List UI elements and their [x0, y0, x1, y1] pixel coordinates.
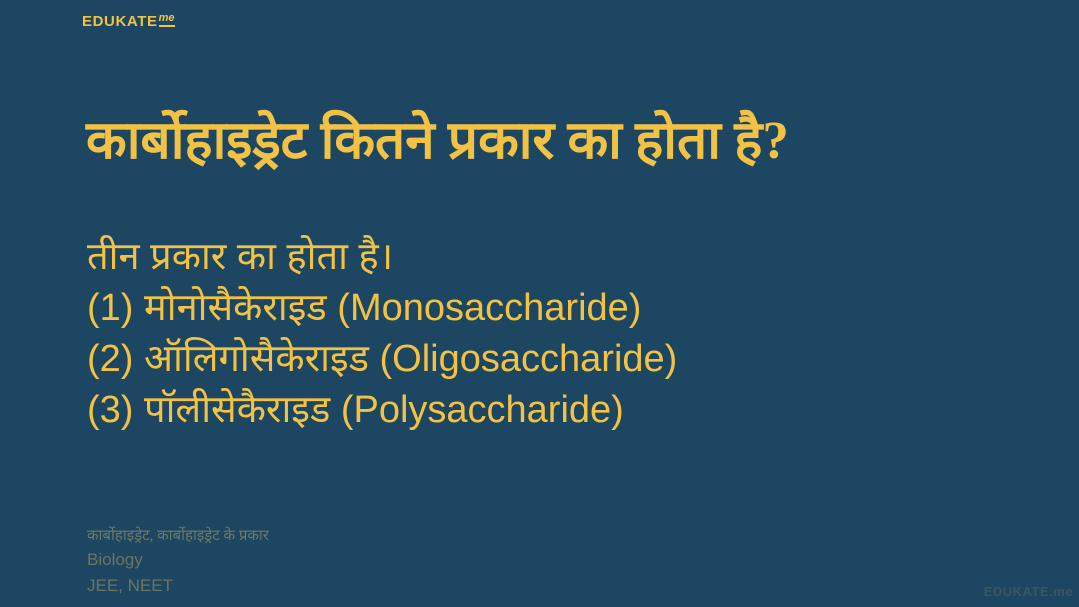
- slide-canvas: EDUKATE me कार्बोहाइड्रेट कितने प्रकार क…: [0, 0, 1079, 607]
- slide-title: कार्बोहाइड्रेट कितने प्रकार का होता है?: [86, 110, 1006, 173]
- body-list-item-3: (3) पॉलीसेकैराइड (Polysaccharide): [87, 385, 1017, 436]
- body-list-item-1: (1) मोनोसैकेराइड (Monosaccharide): [87, 283, 1017, 334]
- brand-logo: EDUKATE me: [82, 14, 175, 29]
- brand-logo-superscript: me: [159, 13, 175, 27]
- body-list-item-2: (2) ऑलिगोसैकेराइड (Oligosaccharide): [87, 334, 1017, 385]
- slide-footer: कार्बोहाइड्रेट, कार्बोहाइड्रेट के प्रकार…: [87, 525, 269, 599]
- watermark-text: EDUKATE.me: [984, 584, 1073, 599]
- footer-subject: Biology: [87, 547, 269, 573]
- slide-body: तीन प्रकार का होता है। (1) मोनोसैकेराइड …: [87, 232, 1017, 436]
- footer-tags: कार्बोहाइड्रेट, कार्बोहाइड्रेट के प्रकार: [87, 525, 269, 547]
- brand-logo-text: EDUKATE: [82, 14, 158, 29]
- body-intro-line: तीन प्रकार का होता है।: [87, 232, 1017, 283]
- footer-exams: JEE, NEET: [87, 573, 269, 599]
